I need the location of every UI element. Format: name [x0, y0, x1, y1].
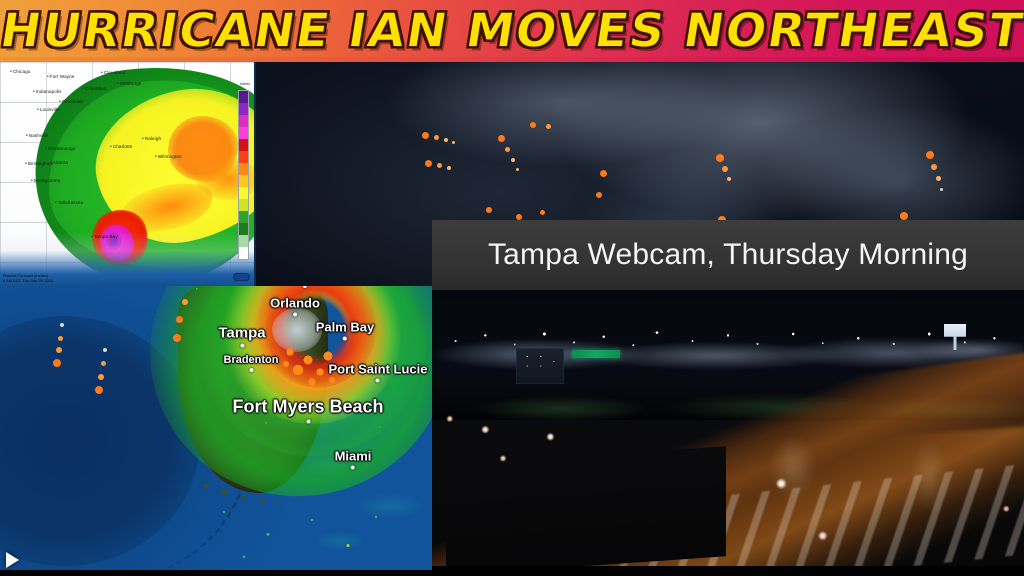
- legend-band: [239, 163, 248, 175]
- lightning-marker: [511, 158, 515, 162]
- rainfall-map-city-label: Nashville: [26, 133, 48, 139]
- lightning-marker: [931, 164, 937, 170]
- lightning-marker: [498, 135, 505, 142]
- lightning-marker: [182, 299, 188, 305]
- play-icon[interactable]: [6, 552, 19, 568]
- lit-building: [516, 348, 564, 384]
- lightning-marker: [101, 361, 106, 366]
- radar-cells-south: [200, 496, 400, 576]
- lightning-marker: [722, 166, 728, 172]
- rainfall-map-city-label: Chicago: [10, 69, 30, 75]
- rainfall-map-city-label: Montgomery: [31, 178, 60, 184]
- legend-band: [239, 187, 248, 199]
- webcam-video-frame[interactable]: [432, 290, 1024, 576]
- provider-logo: [233, 273, 250, 281]
- lightning-marker: [53, 359, 61, 367]
- legend-band: [239, 223, 248, 235]
- rainfall-map-city-label: Raleigh: [142, 136, 161, 142]
- lightning-marker: [540, 210, 545, 215]
- lightning-marker: [447, 166, 451, 170]
- legend-band: [239, 199, 248, 211]
- rainfall-map-caption: Rainfall Forecast (inches) 8 AM EDT Thu …: [3, 273, 53, 283]
- headline-text: HURRICANE IAN MOVES NORTHEAST: [0, 4, 1024, 59]
- rainfall-map-city-label: Birmingham: [25, 161, 53, 167]
- lightning-marker: [926, 151, 934, 159]
- legend-band: [239, 91, 248, 103]
- legend-title: Inches: [240, 82, 250, 86]
- lightning-marker: [176, 316, 183, 323]
- highway-sign: [572, 350, 620, 358]
- rainfall-map-city-label: Cleveland: [101, 70, 125, 76]
- legend-band: [239, 115, 248, 127]
- lightning-marker: [58, 336, 63, 341]
- lightning-marker: [103, 348, 107, 352]
- headline-banner: HURRICANE IAN MOVES NORTHEAST: [0, 0, 1024, 62]
- lightning-marker: [727, 177, 731, 181]
- lightning-marker: [60, 323, 64, 327]
- lightning-marker: [600, 170, 607, 177]
- rainfall-map-city-label: Chattanooga: [45, 146, 75, 152]
- webcam-title-bar: Tampa Webcam, Thursday Morning: [432, 220, 1024, 290]
- foreground-rooftop: [446, 446, 726, 576]
- lightning-marker: [437, 163, 442, 168]
- lightning-marker: [530, 122, 536, 128]
- legend-band: [239, 211, 248, 223]
- lightning-marker: [422, 132, 429, 139]
- lightning-marker: [546, 124, 551, 129]
- lightning-marker: [940, 188, 943, 191]
- rainfall-legend-scale: [238, 90, 249, 260]
- rainfall-map-city-label: Charlotte: [110, 144, 132, 150]
- lightning-marker: [505, 147, 510, 152]
- tampa-webcam-panel: Tampa Webcam, Thursday Morning: [432, 220, 1024, 576]
- lightning-marker: [173, 334, 181, 342]
- lightning-marker: [716, 154, 724, 162]
- water-tower: [944, 324, 966, 350]
- lightning-marker: [936, 176, 941, 181]
- lightning-marker: [56, 347, 62, 353]
- lightning-marker: [452, 141, 455, 144]
- screenshot-root: HURRICANE IAN MOVES NORTHEAST: [0, 0, 1024, 576]
- lightning-marker: [486, 207, 492, 213]
- lightning-marker: [900, 212, 908, 220]
- lightning-marker: [434, 135, 439, 140]
- rainfall-map-city-label: Indianapolis: [33, 89, 62, 95]
- rainfall-map-city-label: Wilmington: [155, 154, 182, 160]
- lightning-marker: [98, 374, 104, 380]
- florida-radar-map: CharlestonSavannahJacksonvilleGainesvill…: [0, 286, 432, 576]
- player-letterbox: [0, 570, 1024, 576]
- lightning-marker: [596, 192, 602, 198]
- lightning-marker: [95, 386, 103, 394]
- lightning-marker: [444, 138, 448, 142]
- rainfall-map-city-label: Tallahassee: [55, 200, 83, 206]
- legend-band: [239, 139, 248, 151]
- rainfall-map-city-label: Columbus: [82, 86, 106, 92]
- rainfall-map-city-label: Fort Wayne: [47, 74, 74, 80]
- rainfall-map-city-label: Tampa Bay: [91, 234, 118, 240]
- legend-band: [239, 127, 248, 139]
- rainfall-map-city-label: Louisville: [37, 107, 60, 113]
- rainfall-forecast-map: ChicagoFort WayneClevelandPittsburghColu…: [0, 62, 256, 286]
- webcam-title-text: Tampa Webcam, Thursday Morning: [488, 238, 968, 272]
- lightning-marker: [516, 168, 519, 171]
- legend-band: [239, 247, 248, 259]
- rainfall-map-city-label: Pittsburgh: [117, 81, 142, 87]
- caption-line-2: 8 AM EDT Thu Sep 29 2022: [3, 278, 53, 283]
- legend-band: [239, 103, 248, 115]
- rainfall-map-city-label: Cincinnati: [59, 99, 83, 105]
- legend-band: [239, 151, 248, 163]
- legend-band: [239, 175, 248, 187]
- legend-band: [239, 235, 248, 247]
- lightning-marker: [425, 160, 432, 167]
